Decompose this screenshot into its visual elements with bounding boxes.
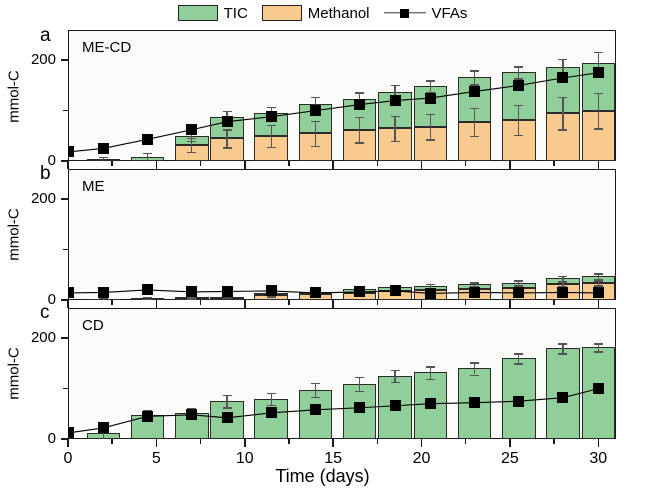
error-bar <box>474 70 475 84</box>
error-bar-cap <box>470 282 479 283</box>
error-bar <box>430 80 431 92</box>
error-bar-cap <box>311 97 320 98</box>
plot-area <box>68 308 616 439</box>
x-axis-minor-tick <box>465 439 466 444</box>
x-axis-minor-tick <box>111 161 112 166</box>
error-bar-cap <box>355 377 364 378</box>
error-bar-cap <box>355 117 364 118</box>
error-bar-cap <box>426 80 435 81</box>
y-axis-tick-label: 0 <box>10 152 56 169</box>
plot-panel-a: ME-CD <box>68 30 616 161</box>
vfa-data-marker <box>469 86 480 97</box>
error-bar-cap <box>223 147 232 148</box>
error-bar-cap <box>311 146 320 147</box>
plot-area <box>68 30 616 161</box>
vfa-data-marker <box>469 287 480 298</box>
vfa-data-marker <box>557 72 568 83</box>
x-axis-minor-tick <box>465 300 466 305</box>
error-bar-cap <box>311 383 320 384</box>
legend-label-vfas: VFAs <box>432 6 468 21</box>
x-axis-minor-tick <box>200 300 201 305</box>
x-axis-minor-tick <box>553 161 554 166</box>
error-bar <box>315 383 316 397</box>
x-axis-tick <box>332 300 334 308</box>
x-axis-tick-label: 0 <box>48 450 88 468</box>
error-bar-cap <box>470 136 479 137</box>
error-bar-cap <box>594 93 603 94</box>
error-bar-cap <box>267 393 276 394</box>
error-bar-cap <box>514 363 523 364</box>
error-bar-cap <box>267 125 276 126</box>
y-axis-tick-label: 0 <box>10 291 56 308</box>
x-axis-tick <box>244 300 246 308</box>
error-bar-cap <box>594 128 603 129</box>
error-bar-cap <box>426 284 435 285</box>
error-bar-cap <box>594 52 603 53</box>
error-bar-cap <box>267 147 276 148</box>
x-axis-minor-tick <box>111 439 112 444</box>
vfa-data-marker <box>266 111 277 122</box>
vfa-data-marker <box>425 288 436 299</box>
error-bar <box>562 343 563 353</box>
x-axis-minor-tick <box>553 439 554 444</box>
error-bar-cap <box>143 153 152 154</box>
error-bar-cap <box>355 391 364 392</box>
vfa-data-marker <box>98 287 109 298</box>
error-bar-cap <box>594 343 603 344</box>
x-axis-tick-label: 25 <box>490 450 530 468</box>
y-axis-tick-label: 200 <box>10 329 56 346</box>
error-bar <box>598 93 599 128</box>
x-axis-minor-tick <box>288 161 289 166</box>
error-bar-cap <box>558 276 567 277</box>
plot-area <box>68 169 616 300</box>
vfa-data-marker <box>186 124 197 135</box>
error-bar-cap <box>355 142 364 143</box>
error-bar <box>359 377 360 391</box>
error-bar <box>359 117 360 142</box>
x-axis-minor-tick <box>553 300 554 305</box>
vfa-data-marker <box>98 143 109 154</box>
vfa-data-marker <box>266 285 277 296</box>
vfa-data-marker <box>354 286 365 297</box>
error-bar <box>394 116 395 141</box>
error-bar <box>518 353 519 363</box>
error-bar <box>271 125 272 147</box>
x-axis-tick <box>156 161 158 169</box>
vfa-data-marker <box>593 383 604 394</box>
vfa-data-marker <box>310 105 321 116</box>
error-bar-cap <box>391 382 400 383</box>
x-axis-tick-label: 10 <box>225 450 265 468</box>
x-axis-tick <box>156 439 158 447</box>
error-bar-cap <box>187 298 196 299</box>
vfa-data-marker <box>425 398 436 409</box>
x-axis-tick <box>509 161 511 169</box>
panel-letter-a: a <box>40 26 51 45</box>
vfa-data-marker <box>593 287 604 298</box>
x-axis-tick-label: 5 <box>136 450 176 468</box>
x-axis-minor-tick <box>288 300 289 305</box>
error-bar-cap <box>391 141 400 142</box>
vfa-data-marker <box>142 411 153 422</box>
x-axis-minor-tick <box>377 161 378 166</box>
y-axis-tick-label: 200 <box>10 51 56 68</box>
error-bar-cap <box>311 397 320 398</box>
error-bar-cap <box>99 157 108 158</box>
error-bar-cap <box>391 116 400 117</box>
error-bar-cap <box>391 85 400 86</box>
vfa-data-marker <box>68 287 74 298</box>
error-bar-cap <box>355 92 364 93</box>
error-bar-cap <box>594 279 603 280</box>
vfa-data-marker <box>390 95 401 106</box>
x-axis-tick <box>67 439 69 447</box>
error-bar-cap <box>594 351 603 352</box>
x-axis-tick <box>156 300 158 308</box>
x-axis-tick <box>421 439 423 447</box>
y-axis-title-c: mmol-C <box>6 336 23 412</box>
error-bar-cap <box>514 66 523 67</box>
error-bar-cap <box>558 59 567 60</box>
vfa-data-marker <box>513 287 524 298</box>
vfa-data-marker <box>513 396 524 407</box>
vfa-data-marker <box>186 409 197 420</box>
error-bar-cap <box>267 296 276 297</box>
error-bar-cap <box>470 70 479 71</box>
y-axis-tick-label: 200 <box>10 190 56 207</box>
chart-legend: TIC Methanol VFAs <box>0 0 645 26</box>
error-bar-cap <box>514 135 523 136</box>
error-bar <box>315 121 316 146</box>
error-bar-cap <box>594 273 603 274</box>
error-bar-cap <box>223 111 232 112</box>
error-bar-cap <box>514 280 523 281</box>
x-axis-tick <box>67 161 69 169</box>
error-bar-cap <box>426 139 435 140</box>
vfa-data-marker <box>142 284 153 295</box>
error-bar-cap <box>426 114 435 115</box>
error-bar-cap <box>311 121 320 122</box>
x-axis-minor-tick <box>111 300 112 305</box>
x-axis-tick <box>598 300 600 308</box>
vfa-data-marker <box>390 400 401 411</box>
error-bar-cap <box>223 407 232 408</box>
x-axis-tick-label: 15 <box>313 450 353 468</box>
x-axis-tick-label: 30 <box>578 450 618 468</box>
x-axis-title: Time (days) <box>0 466 645 487</box>
vfa-data-marker <box>310 404 321 415</box>
error-bar-cap <box>391 370 400 371</box>
error-bar-cap <box>426 379 435 380</box>
legend-entry-methanol: Methanol <box>262 5 370 21</box>
vfa-data-marker <box>354 99 365 110</box>
vfa-data-marker <box>142 134 153 145</box>
x-axis-tick <box>509 300 511 308</box>
error-bar-cap <box>470 375 479 376</box>
plot-panel-c: CD <box>68 308 616 439</box>
vfa-data-marker <box>222 116 233 127</box>
x-axis-minor-tick <box>200 439 201 444</box>
x-axis-minor-tick <box>288 439 289 444</box>
error-bar-cap <box>143 299 152 300</box>
error-bar-cap <box>514 105 523 106</box>
error-bar-cap <box>514 353 523 354</box>
green-square-swatch-icon <box>178 5 218 21</box>
y-axis-title-a: mmol-C <box>6 59 23 135</box>
y-axis-tick <box>61 59 68 61</box>
x-axis-tick <box>332 161 334 169</box>
x-axis-minor-tick <box>465 161 466 166</box>
error-bar-cap <box>223 129 232 130</box>
panel-tag-a: ME-CD <box>82 40 131 55</box>
error-bar <box>518 105 519 135</box>
vfa-data-marker <box>593 67 604 78</box>
error-bar-cap <box>558 353 567 354</box>
vfa-data-marker <box>266 407 277 418</box>
x-axis-tick <box>67 300 69 308</box>
error-bar-cap <box>558 97 567 98</box>
figure-root: TIC Methanol VFAs a b c mmol-C mmol-C mm… <box>0 0 645 492</box>
vfa-data-marker <box>354 402 365 413</box>
orange-square-swatch-icon <box>262 5 302 21</box>
panel-tag-c: CD <box>82 318 104 333</box>
error-bar-cap <box>223 298 232 299</box>
error-bar <box>271 393 272 405</box>
error-bar <box>430 114 431 139</box>
y-axis-tick <box>61 198 68 200</box>
vfa-data-marker <box>68 427 74 438</box>
vfa-data-marker <box>310 287 321 298</box>
error-bar-cap <box>267 107 276 108</box>
x-axis-tick <box>598 161 600 169</box>
x-axis-tick <box>421 161 423 169</box>
line-square-marker-icon <box>384 5 426 21</box>
error-bar-cap <box>187 152 196 153</box>
x-axis-minor-tick <box>377 300 378 305</box>
x-axis-tick-label: 20 <box>402 450 442 468</box>
error-bar <box>226 129 227 147</box>
x-axis-tick <box>244 161 246 169</box>
legend-entry-vfas: VFAs <box>384 5 468 21</box>
legend-entry-tic: TIC <box>178 5 248 21</box>
x-axis-tick <box>244 439 246 447</box>
vfa-data-marker <box>513 80 524 91</box>
error-bar <box>474 108 475 136</box>
vfa-data-marker <box>222 286 233 297</box>
error-bar-cap <box>558 343 567 344</box>
vfa-data-marker <box>186 286 197 297</box>
vfa-data-marker <box>98 422 109 433</box>
error-bar-cap <box>470 108 479 109</box>
plot-panel-b: ME <box>68 169 616 300</box>
error-bar-cap <box>558 281 567 282</box>
x-axis-minor-tick <box>377 439 378 444</box>
error-bar-cap <box>223 395 232 396</box>
vfa-data-marker <box>222 412 233 423</box>
error-bar <box>474 362 475 374</box>
error-bar <box>394 370 395 382</box>
vfa-data-marker <box>425 93 436 104</box>
vfa-data-marker <box>557 392 568 403</box>
vfa-trend-line <box>68 169 616 300</box>
y-axis-tick-label: 0 <box>10 430 56 447</box>
error-bar-cap <box>267 405 276 406</box>
y-axis-tick <box>61 337 68 339</box>
y-axis-title-b: mmol-C <box>6 197 23 273</box>
error-bar <box>430 366 431 378</box>
error-bar <box>562 97 563 129</box>
error-bar-cap <box>426 366 435 367</box>
x-axis-tick <box>332 439 334 447</box>
x-axis-minor-tick <box>200 161 201 166</box>
error-bar-cap <box>470 362 479 363</box>
panel-tag-b: ME <box>82 179 105 194</box>
error-bar-cap <box>558 129 567 130</box>
vfa-data-marker <box>557 287 568 298</box>
x-axis-tick <box>598 439 600 447</box>
vfa-data-marker <box>390 285 401 296</box>
x-axis-tick <box>421 300 423 308</box>
error-bar <box>518 66 519 78</box>
legend-label-tic: TIC <box>224 6 248 21</box>
vfa-data-marker <box>469 397 480 408</box>
x-axis-tick <box>509 439 511 447</box>
error-bar <box>226 395 227 407</box>
legend-label-methanol: Methanol <box>308 6 370 21</box>
error-bar-cap <box>187 141 196 142</box>
vfa-data-marker <box>68 146 74 157</box>
